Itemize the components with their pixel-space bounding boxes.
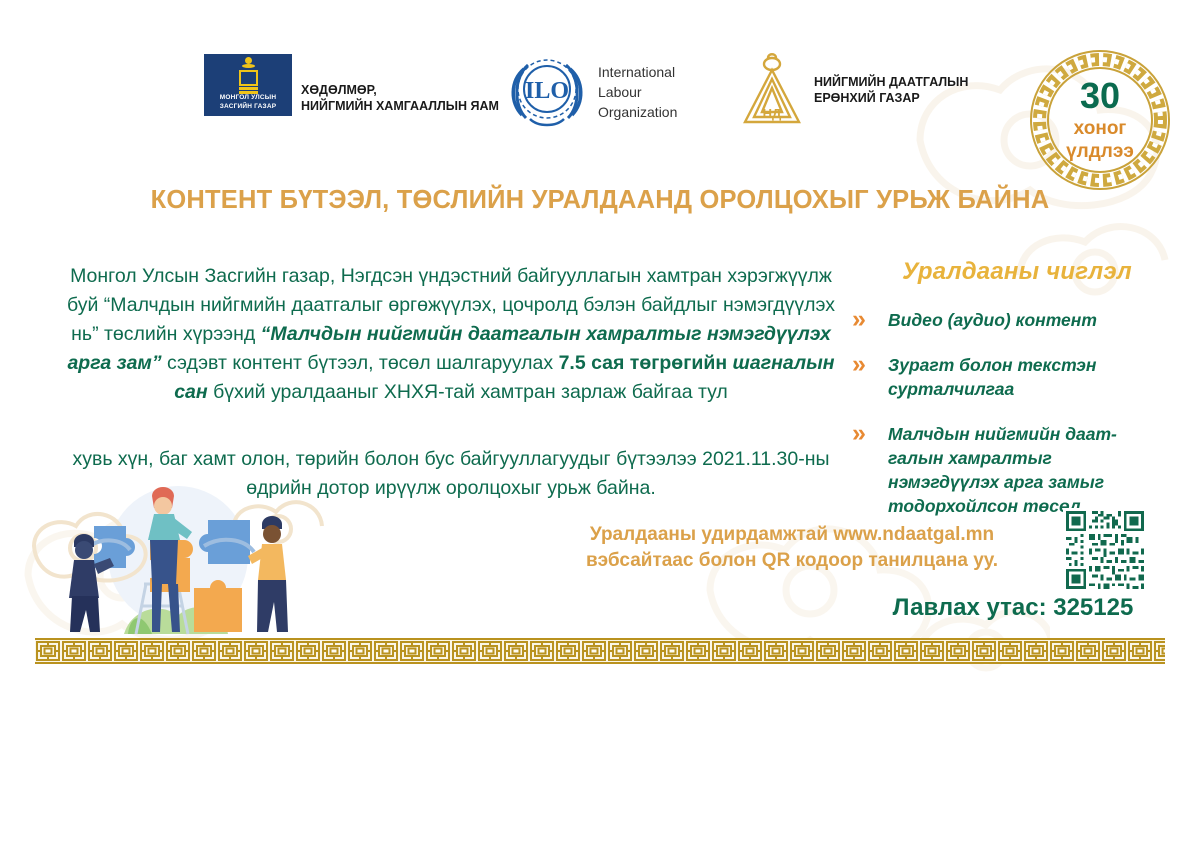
teamwork-puzzle-illustration (28, 484, 338, 644)
category-item-2-label: Зурагт болон текстэн сурталчилгаа (888, 353, 1096, 401)
svg-text:НД: НД (763, 106, 782, 121)
ndg-emblem-icon: НД (740, 52, 804, 128)
body-text-column: Монгол Улсын Засгийн газар, Нэгдсэн үндэ… (56, 262, 846, 503)
ilo-name-label: International Labour Organization (598, 62, 677, 122)
double-chevron-right-icon: » (852, 422, 888, 444)
meander-pattern-icon (35, 640, 1165, 662)
logo-ministry-of-labour: МОНГОЛ УЛСЫН ЗАСГИЙН ГАЗАР ХӨДӨЛМӨР, НИЙ… (204, 54, 499, 116)
ilo-emblem-icon: ILO (508, 55, 586, 129)
ndg-name-label: НИЙГМИЙН ДААТГАЛЫН ЕРӨНХИЙ ГАЗАР (814, 74, 968, 106)
mongolia-government-emblem-icon: МОНГОЛ УЛСЫН ЗАСГИЙН ГАЗАР (204, 54, 292, 116)
category-item-2: » Зурагт болон текстэн сурталчилгаа (852, 353, 1182, 401)
ministry-name-label: ХӨДӨЛМӨР, НИЙГМИЙН ХАМГААЛЛЫН ЯАМ (301, 82, 499, 116)
ornamental-border-band (35, 638, 1165, 664)
body-p1-part2: сэдэвт контент бүтээл, төсөл шалгаруулах (162, 352, 559, 374)
category-item-3-label: Малчдын нийгмийн даат- галын хамралтыг н… (888, 422, 1117, 518)
countdown-number: 30 (1080, 78, 1120, 114)
poster-canvas: МОНГОЛ УЛСЫН ЗАСГИЙН ГАЗАР ХӨДӨЛМӨР, НИЙ… (0, 0, 1200, 849)
contact-phone: Лавлах утас: 325125 (848, 594, 1178, 622)
category-item-1-label: Видео (аудио) контент (888, 308, 1097, 332)
body-paragraph-1: Монгол Улсын Засгийн газар, Нэгдсэн үндэ… (56, 262, 846, 407)
website-instruction-text: Уралдааны удирдамжтай www.ndaatgal.mn вэ… (542, 522, 1042, 574)
svg-text:ILO: ILO (525, 78, 569, 104)
logo-ilo: ILO International Labour Organization (508, 55, 677, 129)
competition-categories-panel: Уралдааны чиглэл » Видео (аудио) контент… (852, 258, 1182, 539)
soyombo-symbol-icon (237, 57, 259, 93)
category-item-1: » Видео (аудио) контент (852, 308, 1182, 332)
qr-code-icon (1046, 508, 1164, 592)
body-p1-part3: бүхий уралдааныг ХНХЯ-тай хамтран зарлаж… (208, 381, 728, 403)
poster-title-wrap: КОНТЕНТ БҮТЭЭЛ, ТӨСЛИЙН УРАЛДААНД ОРОЛЦО… (0, 186, 1200, 215)
double-chevron-right-icon: » (852, 353, 888, 375)
category-item-3: » Малчдын нийгмийн даат- галын хамралтыг… (852, 422, 1182, 518)
body-p1-prize: 7.5 сая төгрөгийн (559, 352, 728, 374)
gov-emblem-line1: МОНГОЛ УЛСЫН (220, 94, 277, 102)
poster-header: МОНГОЛ УЛСЫН ЗАСГИЙН ГАЗАР ХӨДӨЛМӨР, НИЙ… (0, 0, 1200, 170)
page-title: КОНТЕНТ БҮТЭЭЛ, ТӨСЛИЙН УРАЛДААНД ОРОЛЦО… (151, 186, 1050, 214)
double-chevron-right-icon: » (852, 308, 888, 330)
countdown-badge: 30 хоног үлдлээ (1024, 44, 1176, 196)
logo-social-insurance-general-office: НД НИЙГМИЙН ДААТГАЛЫН ЕРӨНХИЙ ГАЗАР (740, 52, 968, 128)
countdown-label-line2: үлдлээ (1066, 140, 1134, 163)
competition-categories-title: Уралдааны чиглэл (852, 258, 1182, 286)
countdown-label-line1: хоног (1074, 117, 1127, 140)
gov-emblem-line2: ЗАСГИЙН ГАЗАР (220, 103, 277, 111)
